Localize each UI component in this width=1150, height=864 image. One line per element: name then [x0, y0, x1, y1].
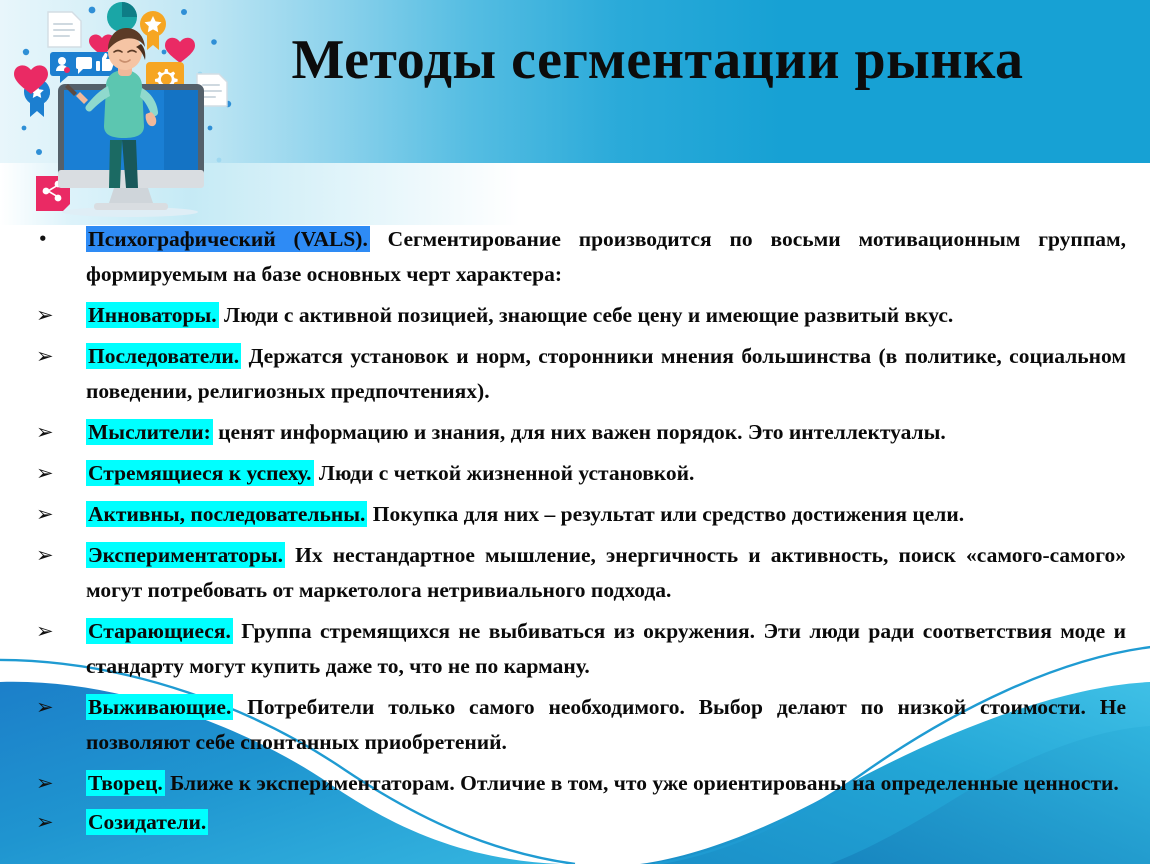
- highlighted-term: Мыслители:: [86, 419, 213, 445]
- list-item: ➢Экспериментаторы. Их нестандартное мышл…: [22, 538, 1126, 608]
- list-item: ➢Творец. Ближе к экспериментаторам. Отли…: [22, 766, 1126, 801]
- bullet-arrow-icon: ➢: [36, 339, 54, 374]
- bullet-arrow-icon: ➢: [36, 766, 54, 801]
- highlighted-term: Инноваторы.: [86, 302, 219, 328]
- highlighted-term: Старающиеся.: [86, 618, 233, 644]
- bullet-arrow-icon: ➢: [36, 456, 54, 491]
- list-item: •Психографический (VALS). Сегментировани…: [22, 222, 1126, 292]
- highlighted-term: Экспериментаторы.: [86, 542, 285, 568]
- bullet-dot-icon: •: [38, 222, 48, 257]
- slide-root: Методы сегментации рынка •Психографическ…: [0, 0, 1150, 864]
- bullet-arrow-icon: ➢: [36, 614, 54, 649]
- slide-title: Методы сегментации рынка: [0, 30, 1150, 92]
- item-text: Люди с активной позицией, знающие себе ц…: [219, 303, 954, 327]
- list-item: ➢Мыслители: ценят информацию и знания, д…: [22, 415, 1126, 450]
- list-item: ➢Выживающие. Потребители только самого н…: [22, 690, 1126, 760]
- item-text: ценят информацию и знания, для них важен…: [213, 420, 946, 444]
- bullet-arrow-icon: ➢: [36, 298, 54, 333]
- bullet-arrow-icon: ➢: [36, 497, 54, 532]
- item-text: Люди с четкой жизненной установкой.: [314, 461, 695, 485]
- highlighted-term: Творец.: [86, 770, 165, 796]
- highlighted-term: Выживающие.: [86, 694, 233, 720]
- pie-chart-icon: [107, 2, 137, 32]
- highlighted-term: Последователи.: [86, 343, 241, 369]
- bullet-arrow-icon: ➢: [36, 805, 54, 840]
- body-content: •Психографический (VALS). Сегментировани…: [0, 222, 1150, 862]
- list-item: ➢Активны, последовательны. Покупка для н…: [22, 497, 1126, 532]
- highlighted-term: Созидатели.: [86, 809, 208, 835]
- item-text: Ближе к экспериментаторам. Отличие в том…: [165, 771, 1119, 795]
- bullet-arrow-icon: ➢: [36, 690, 54, 725]
- list-item: ➢Стремящиеся к успеху. Люди с четкой жиз…: [22, 456, 1126, 491]
- list-item: ➢Последователи. Держатся установок и нор…: [22, 339, 1126, 409]
- bullet-arrow-icon: ➢: [36, 415, 54, 450]
- bullet-arrow-icon: ➢: [36, 538, 54, 573]
- item-text: Покупка для них – результат или средство…: [367, 502, 964, 526]
- item-text: Потребители только самого необходимого. …: [86, 695, 1126, 754]
- list-item: ➢Созидатели.: [22, 805, 1126, 840]
- item-text: Держатся установок и норм, сторонники мн…: [86, 344, 1126, 403]
- highlighted-term: Психографический (VALS).: [86, 226, 370, 252]
- list-item: ➢Инноваторы. Люди с активной позицией, з…: [22, 298, 1126, 333]
- highlighted-term: Стремящиеся к успеху.: [86, 460, 314, 486]
- highlighted-term: Активны, последовательны.: [86, 501, 367, 527]
- item-text: Группа стремящихся не выбиваться из окру…: [86, 619, 1126, 678]
- list-item: ➢Старающиеся. Группа стремящихся не выби…: [22, 614, 1126, 684]
